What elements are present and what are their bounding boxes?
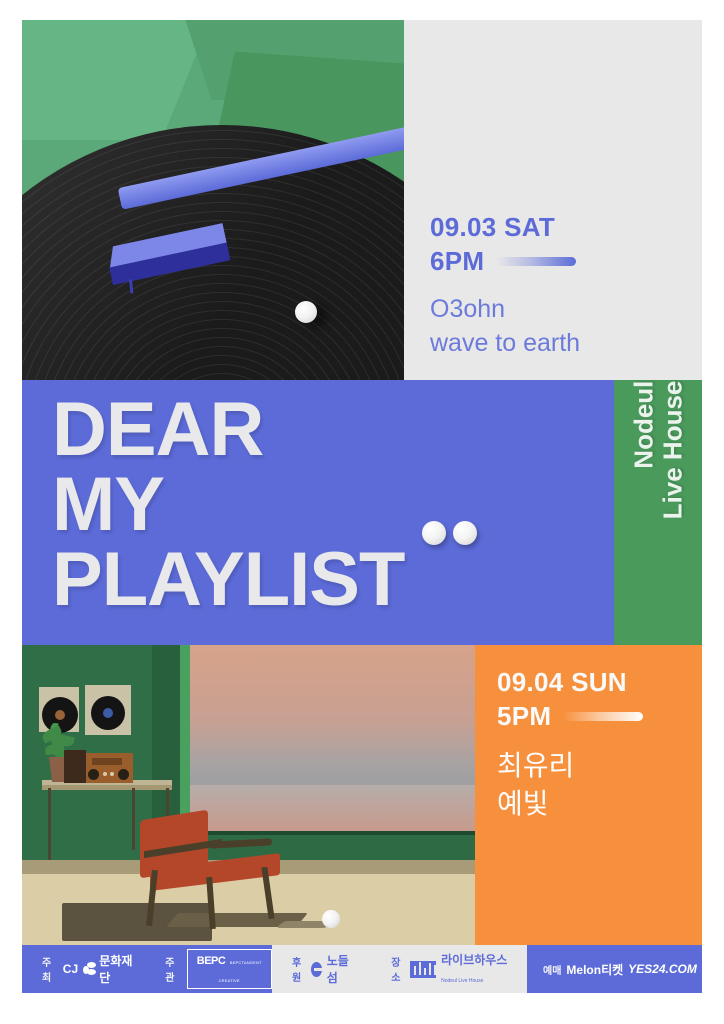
footer-section-support-venue: 후원 노들섬 장소 라이브하우스 Nodeul Live House xyxy=(272,945,527,993)
yes24-link[interactable]: YES24.COM xyxy=(628,962,697,976)
credit-host: 주최 CJ 문화재단 xyxy=(42,952,137,986)
page-title: DEAR MY PLAYLIST xyxy=(52,392,404,618)
wall-vinyl-icon-2 xyxy=(91,696,125,730)
credit-venue-name: 라이브하우스 xyxy=(441,953,507,967)
white-sphere-icon xyxy=(295,301,317,323)
nodeul-circle-icon xyxy=(311,962,322,977)
credit-host-label: 주최 xyxy=(42,954,58,984)
credit-support-name: 노들섬 xyxy=(327,952,352,986)
day2-act-2: 예빛 xyxy=(497,785,643,824)
credit-organizer-name: BEPC xyxy=(197,955,226,967)
credit-ticketing[interactable]: 예매 Melon티켓 YES24.COM xyxy=(543,961,697,978)
bepc-box-icon: BEPC BEPCTANGENT CREATIVE xyxy=(187,949,273,989)
credit-host-prefix: CJ xyxy=(63,962,78,976)
day1-date: 09.03 SAT xyxy=(430,210,580,244)
credit-venue-label: 장소 xyxy=(391,954,405,984)
footer-credits: 주최 CJ 문화재단 주관 BEPC BEPCTANGENT CREATIVE … xyxy=(22,945,702,993)
credit-support: 후원 노들섬 xyxy=(292,952,351,986)
day1-act-2: wave to earth xyxy=(430,326,580,360)
title-line-3: PLAYLIST xyxy=(52,542,404,617)
footer-section-organizers: 주최 CJ 문화재단 주관 BEPC BEPCTANGENT CREATIVE xyxy=(22,945,272,993)
white-sphere-icon-2 xyxy=(322,910,340,928)
venue-vertical-label: Nodeul Live House xyxy=(614,380,702,645)
title-line-2: MY xyxy=(52,467,404,542)
credit-organizer: 주관 BEPC BEPCTANGENT CREATIVE xyxy=(165,949,272,989)
livehouse-bars-icon xyxy=(410,961,436,978)
title-band: DEAR MY PLAYLIST Nodeul Live House xyxy=(22,380,702,645)
day2-time: 5PM xyxy=(497,699,551,733)
day1-time: 6PM xyxy=(430,244,484,278)
cj-petal-icon xyxy=(83,962,94,976)
credit-organizer-label: 주관 xyxy=(165,954,181,984)
gradient-rule-icon-2 xyxy=(563,712,643,721)
day2-act-1: 최유리 xyxy=(497,747,643,786)
poster-canvas: TUNE UP 음악노들 메 이 트 09.03 SAT xyxy=(22,20,702,1024)
melon-ticket-link[interactable]: Melon티켓 xyxy=(566,961,623,978)
day1-info-panel: 09.03 SAT 6PM O3ohn wave to earth xyxy=(404,20,702,380)
venue-vertical-text: Nodeul Live House xyxy=(629,381,686,623)
credit-ticketing-label: 예매 xyxy=(543,962,561,977)
credit-venue: 장소 라이브하우스 Nodeul Live House xyxy=(391,951,527,987)
footer-section-ticketing: 예매 Melon티켓 YES24.COM xyxy=(527,945,702,993)
listening-room-artwork xyxy=(22,645,475,945)
bottom-block: 09.04 SUN 5PM 최유리 예빛 xyxy=(22,645,702,945)
title-line-1: DEAR xyxy=(52,392,404,467)
day1-act-1: O3ohn xyxy=(430,292,580,326)
top-block: 09.03 SAT 6PM O3ohn wave to earth xyxy=(22,20,702,380)
day2-info-panel: 09.04 SUN 5PM 최유리 예빛 xyxy=(475,645,702,945)
credit-venue-sub: Nodeul Live House xyxy=(441,978,483,984)
day2-date: 09.04 SUN xyxy=(497,665,643,699)
sphere-umlaut-icon xyxy=(422,521,477,545)
gradient-rule-icon xyxy=(496,257,576,266)
stereo-system-icon xyxy=(68,753,133,783)
vinyl-record-artwork xyxy=(22,20,404,380)
credit-organizer-sub: BEPCTANGENT CREATIVE xyxy=(219,960,262,983)
credit-support-label: 후원 xyxy=(292,954,306,984)
credit-host-name: 문화재단 xyxy=(99,952,137,986)
